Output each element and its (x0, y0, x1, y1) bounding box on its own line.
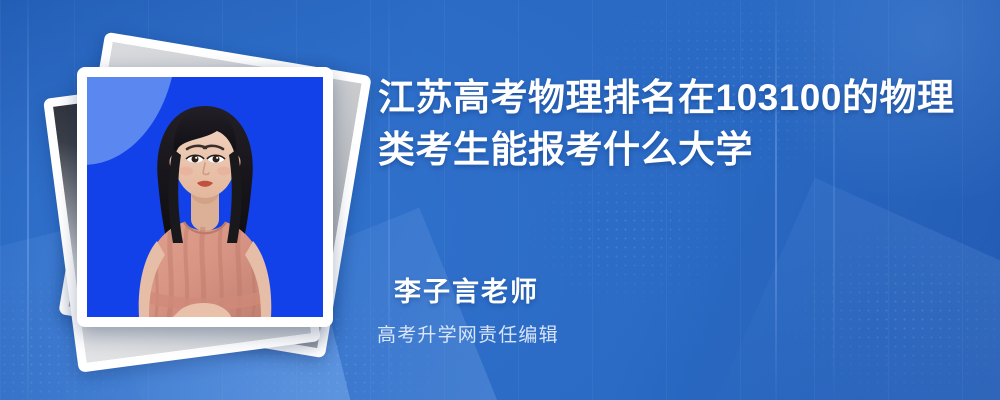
photo-card-stack (52, 38, 362, 358)
title-line-1: 江苏高考物理排名在103100的物理 (378, 72, 976, 124)
cheek-right (217, 167, 231, 176)
teacher-portrait (87, 77, 323, 317)
text-column: 江苏高考物理排名在103100的物理 类考生能报考什么大学 李子言老师 高考升学… (372, 0, 976, 400)
author-role: 高考升学网责任编辑 (377, 320, 559, 347)
author-name: 李子言老师 (394, 270, 539, 309)
cheek-left (179, 167, 193, 176)
title-line-2: 类考生能报考什么大学 (378, 124, 976, 176)
article-cover-banner: 江苏高考物理排名在103100的物理 类考生能报考什么大学 李子言老师 高考升学… (0, 0, 1000, 400)
teacher-photo-card (77, 67, 333, 327)
article-title: 江苏高考物理排名在103100的物理 类考生能报考什么大学 (378, 72, 976, 176)
